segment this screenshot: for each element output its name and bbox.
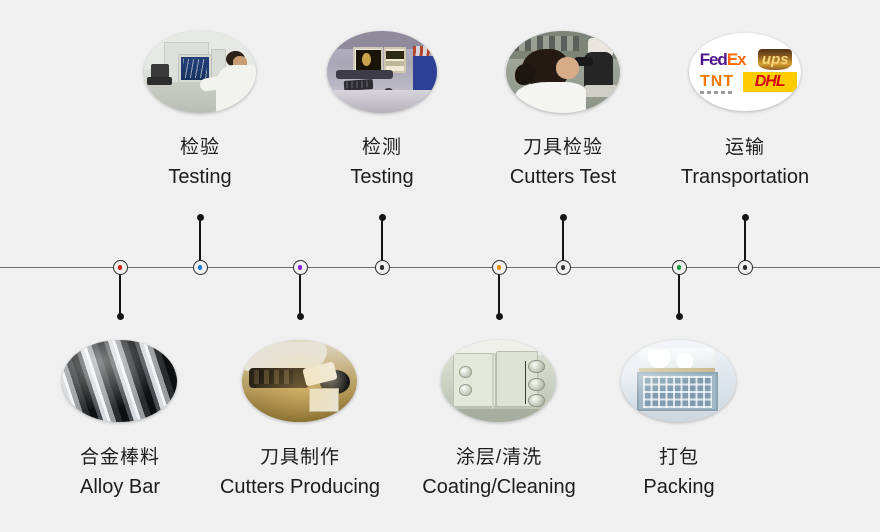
- coating-chamber-photo: [441, 340, 556, 422]
- caption-packing: 打包 Packing: [579, 448, 779, 497]
- timeline-node-cutters-producing[interactable]: [293, 260, 308, 275]
- stem-knob-up-1: [197, 214, 204, 221]
- ups-logo: ups: [758, 49, 792, 71]
- courier-logos-photo: FedEx ups TNT DHL: [689, 33, 801, 111]
- caption-transportation: 运输 Transportation: [625, 138, 865, 187]
- measurement-bench-photo: [327, 31, 437, 113]
- computer-workstation-photo: [144, 31, 256, 113]
- process-timeline-infographic: FedEx ups TNT DHL 检验 Testing 检测 Testing …: [0, 0, 880, 532]
- stem-knob-up-3: [560, 214, 567, 221]
- microscope-operator-photo: [506, 31, 620, 113]
- caption-cn: 打包: [579, 448, 779, 467]
- tnt-logo: TNT: [698, 74, 736, 91]
- caption-testing-1: 检验 Testing: [100, 138, 300, 187]
- stem-knob-down-2: [297, 313, 304, 320]
- caption-cn: 检验: [100, 138, 300, 157]
- stem-knob-down-3: [496, 313, 503, 320]
- timeline-node-testing-2[interactable]: [375, 260, 390, 275]
- packing-tray-photo: [621, 340, 736, 422]
- caption-cn: 检测: [282, 138, 482, 157]
- cnc-machine-photo: [242, 340, 357, 422]
- caption-cn: 运输: [625, 138, 865, 157]
- caption-en: Testing: [100, 167, 300, 187]
- fedex-logo: FedEx: [700, 52, 745, 68]
- stem-knob-down-4: [676, 313, 683, 320]
- fedex-logo-fed: Fed: [700, 50, 727, 70]
- stem-knob-up-4: [742, 214, 749, 221]
- timeline-node-packing[interactable]: [672, 260, 687, 275]
- caption-en: Transportation: [625, 167, 865, 187]
- timeline-node-cutters-test[interactable]: [556, 260, 571, 275]
- timeline-node-coating-cleaning[interactable]: [492, 260, 507, 275]
- dhl-logo: DHL: [743, 72, 797, 92]
- stem-knob-down-1: [117, 313, 124, 320]
- fedex-logo-ex: Ex: [727, 50, 746, 70]
- caption-en: Packing: [579, 477, 779, 497]
- caption-testing-2: 检测 Testing: [282, 138, 482, 187]
- timeline-node-testing-1[interactable]: [193, 260, 208, 275]
- caption-en: Testing: [282, 167, 482, 187]
- timeline-node-transportation[interactable]: [738, 260, 753, 275]
- timeline-node-alloy-bar[interactable]: [113, 260, 128, 275]
- stem-knob-up-2: [379, 214, 386, 221]
- alloy-bars-photo: [62, 340, 177, 422]
